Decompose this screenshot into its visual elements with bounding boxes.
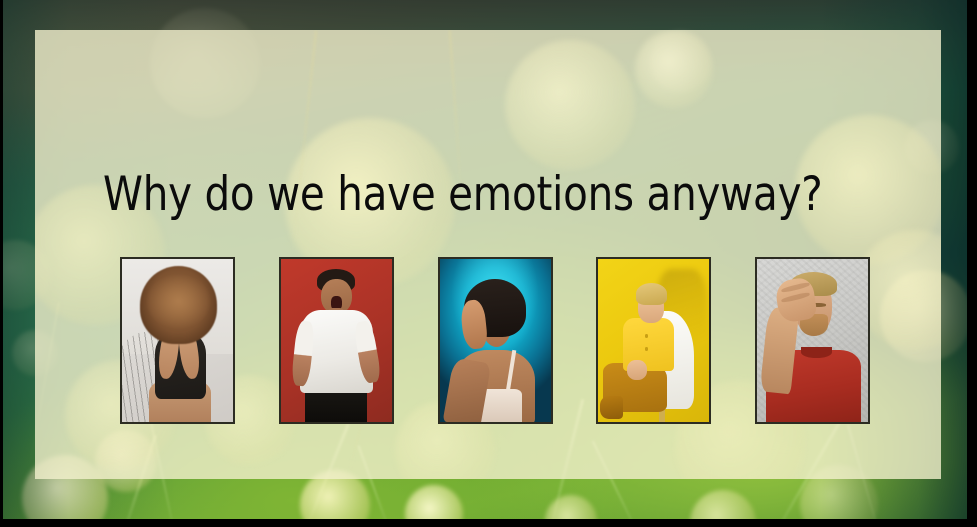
- photo-happy-woman[interactable]: [120, 257, 235, 424]
- photo-frustrated-man[interactable]: [755, 257, 870, 424]
- photo-sulking-boy-image: [598, 259, 709, 422]
- photo-frustrated-man-image: [757, 259, 868, 422]
- panel-bokeh: [505, 40, 635, 170]
- slide-title: Why do we have emotions anyway?: [103, 169, 857, 222]
- presentation-slide: Why do we have emotions anyway?: [0, 0, 977, 527]
- photo-sulking-boy[interactable]: [596, 257, 711, 424]
- photo-angry-man[interactable]: [279, 257, 394, 424]
- photo-sad-woman[interactable]: [438, 257, 553, 424]
- content-panel: Why do we have emotions anyway?: [35, 30, 941, 479]
- emotion-photo-row: [120, 257, 870, 427]
- photo-angry-man-image: [281, 259, 392, 422]
- frame-edge-bottom: [0, 519, 977, 527]
- frame-edge-right: [967, 0, 977, 527]
- photo-sad-woman-image: [440, 259, 551, 422]
- photo-happy-woman-image: [122, 259, 233, 422]
- panel-bokeh: [635, 30, 713, 108]
- frame-edge-left: [0, 0, 3, 527]
